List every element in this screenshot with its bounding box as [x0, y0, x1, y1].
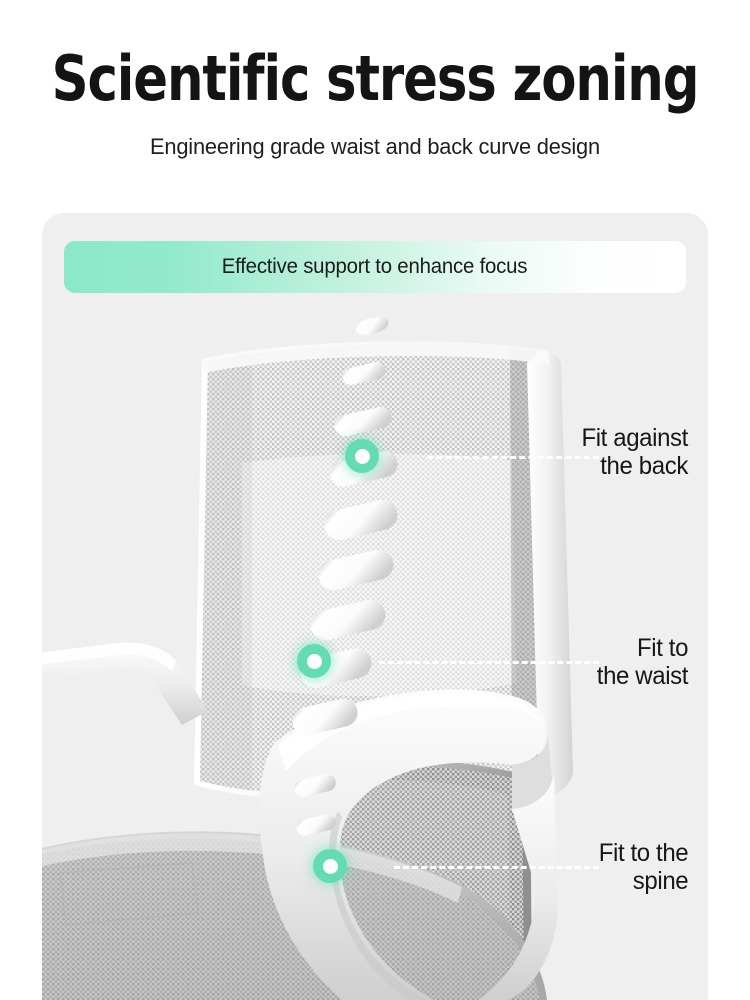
page-title: Scientific stress zoning — [30, 0, 720, 110]
callout-spine-line1: Fit to the — [598, 839, 688, 867]
marker-core-icon — [307, 654, 322, 669]
leader-line-back — [427, 456, 599, 459]
marker-core-icon — [355, 449, 370, 464]
back-support-marker[interactable] — [345, 439, 379, 473]
callout-back: Fit against the back — [582, 424, 689, 481]
callout-waist-line2: the waist — [597, 662, 688, 690]
callout-spine-line2: spine — [598, 867, 688, 895]
marker-core-icon — [323, 859, 338, 874]
spine-segment-0 — [354, 314, 391, 338]
product-feature-page: Scientific stress zoning Engineering gra… — [0, 0, 750, 1000]
feature-card: Effective support to enhance focus — [42, 213, 708, 1000]
callout-waist-line1: Fit to — [597, 634, 688, 662]
waist-support-marker[interactable] — [297, 644, 331, 678]
page-subtitle: Engineering grade waist and back curve d… — [11, 110, 739, 160]
page-header: Scientific stress zoning Engineering gra… — [0, 0, 750, 160]
leader-line-spine — [394, 866, 599, 869]
spine-support-marker[interactable] — [313, 849, 347, 883]
callout-spine: Fit to the spine — [598, 839, 688, 896]
callout-back-line1: Fit against — [582, 424, 689, 452]
callout-waist: Fit to the waist — [597, 634, 688, 691]
leader-line-waist — [379, 661, 599, 664]
callout-back-line2: the back — [582, 452, 689, 480]
armrest-left — [42, 643, 208, 725]
